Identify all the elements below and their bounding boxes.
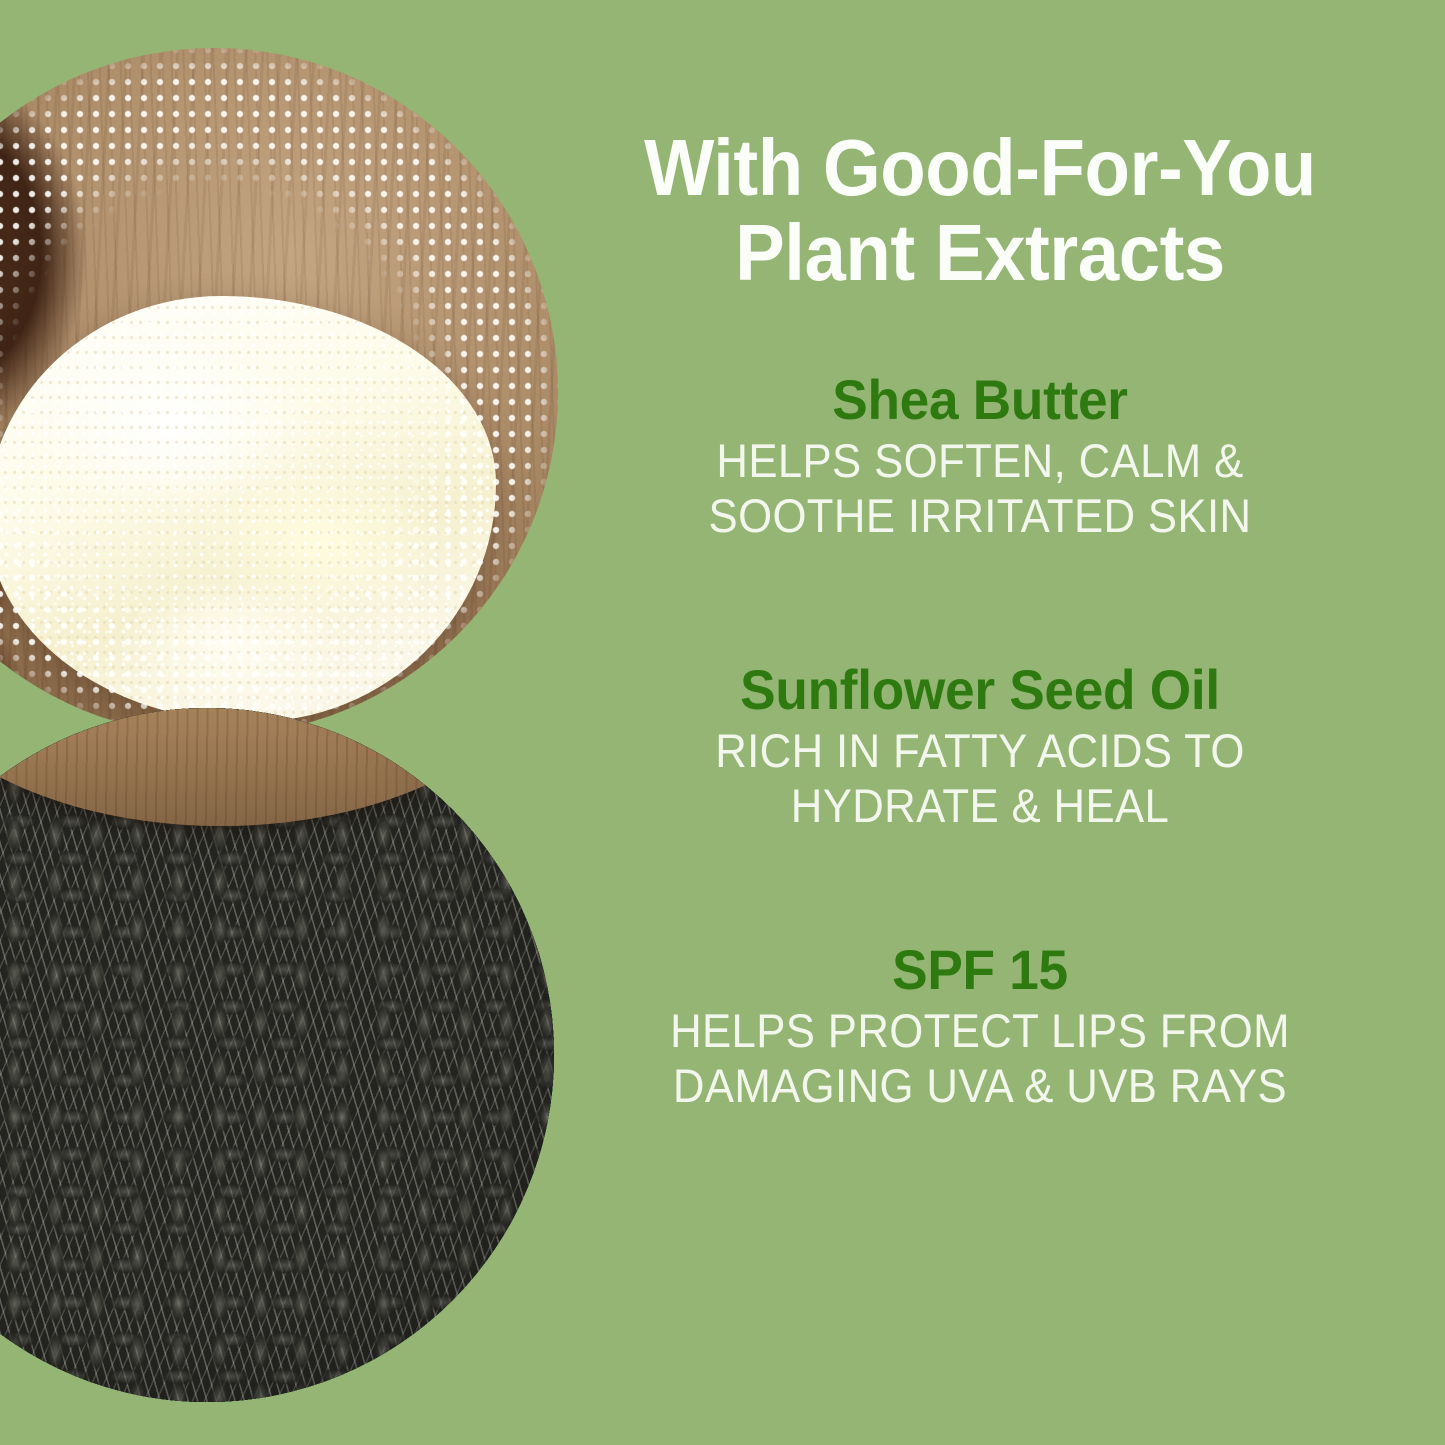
sunflower-seeds-photo <box>0 708 554 1402</box>
ingredient-desc-line-2: DAMAGING UVA & UVB RAYS <box>589 1059 1370 1114</box>
ingredient-desc-line-1: RICH IN FATTY ACIDS TO <box>589 724 1370 779</box>
ingredient-desc-spf-15: HELPS PROTECT LIPS FROM DAMAGING UVA & U… <box>589 1004 1370 1114</box>
ingredient-desc-line-2: HYDRATE & HEAL <box>589 779 1370 834</box>
ingredient-desc-line-2: SOOTHE IRRITATED SKIN <box>589 489 1370 544</box>
ingredient-name-sunflower-seed-oil: Sunflower Seed Oil <box>581 660 1379 720</box>
ingredient-name-shea-butter: Shea Butter <box>581 370 1379 430</box>
text-column: With Good-For-You Plant Extracts Shea Bu… <box>560 0 1400 1445</box>
ingredient-block-spf-15: SPF 15 HELPS PROTECT LIPS FROM DAMAGING … <box>560 940 1400 1114</box>
ingredient-infographic: With Good-For-You Plant Extracts Shea Bu… <box>0 0 1445 1445</box>
headline-line-1: With Good-For-You <box>644 123 1316 212</box>
shea-butter-photo <box>0 48 558 736</box>
ingredient-name-spf-15: SPF 15 <box>581 940 1379 1000</box>
ingredient-block-shea-butter: Shea Butter HELPS SOFTEN, CALM & SOOTHE … <box>560 370 1400 544</box>
ingredient-desc-line-1: HELPS SOFTEN, CALM & <box>589 434 1370 489</box>
ingredient-desc-sunflower-seed-oil: RICH IN FATTY ACIDS TO HYDRATE & HEAL <box>589 724 1370 834</box>
ingredient-desc-line-1: HELPS PROTECT LIPS FROM <box>589 1004 1370 1059</box>
headline-line-2: Plant Extracts <box>735 208 1225 297</box>
page-title: With Good-For-You Plant Extracts <box>589 126 1370 296</box>
ingredient-desc-shea-butter: HELPS SOFTEN, CALM & SOOTHE IRRITATED SK… <box>589 434 1370 544</box>
shea-butter-crumb-edge <box>0 48 558 736</box>
ingredient-block-sunflower-seed-oil: Sunflower Seed Oil RICH IN FATTY ACIDS T… <box>560 660 1400 834</box>
